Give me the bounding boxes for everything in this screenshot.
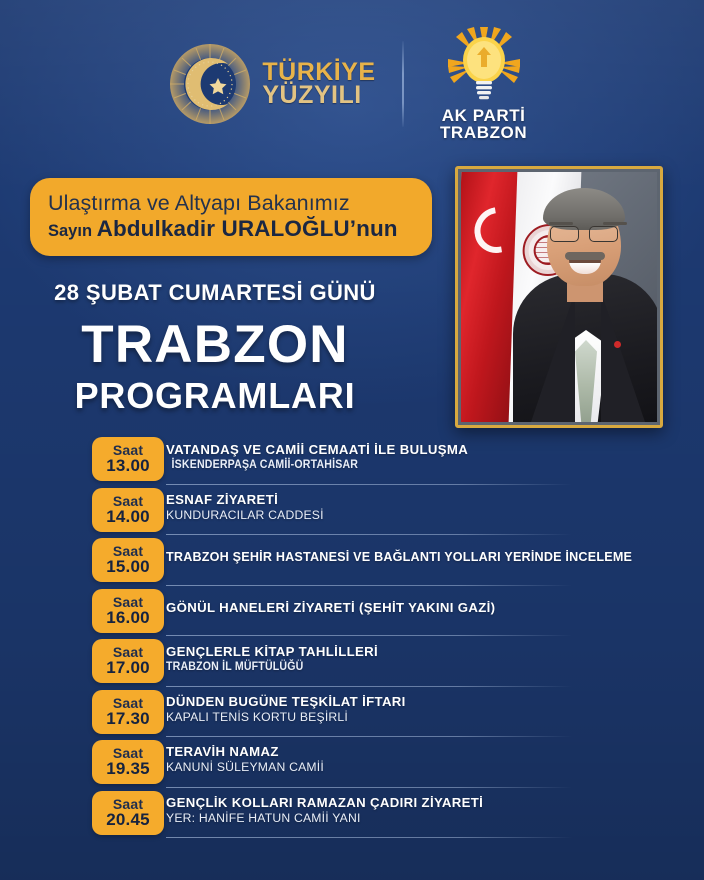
ak-parti-line: AK PARTİ [442, 107, 526, 124]
time-badge: Saat 17.00 [92, 639, 164, 683]
minister-banner: Ulaştırma ve Altyapı Bakanımız Sayın Abd… [30, 178, 432, 256]
time-badge-value: 17.00 [106, 659, 150, 676]
schedule-item-title: DÜNDEN BUGÜNE TEŞKİLAT İFTARI [166, 694, 570, 710]
portrait-moustache [565, 252, 605, 260]
time-badge-value: 13.00 [106, 457, 150, 474]
schedule-item-subtitle: KUNDURACILAR CADDESİ [166, 508, 570, 523]
time-badge-label: Saat [113, 645, 143, 659]
time-badge-label: Saat [113, 746, 143, 760]
banner-name-text: Sayın Abdulkadir URALOĞLU’nun [48, 216, 416, 241]
time-badge-label: Saat [113, 494, 143, 508]
schedule-item-title: GÖNÜL HANELERİ ZİYARETİ (ŞEHİT YAKINI GA… [166, 600, 570, 616]
time-badge: Saat 13.00 [92, 437, 164, 481]
portrait-brow-left [549, 222, 573, 225]
banner-minister-name: Abdulkadir URALOĞLU’nun [97, 216, 398, 241]
row-divider [166, 837, 572, 838]
schedule-row-text: GENÇLİK KOLLARI RAMAZAN ÇADIRI ZİYARETİ … [166, 788, 570, 834]
poster: TÜRKİYE YÜZYILI [0, 0, 704, 880]
time-badge-label: Saat [113, 595, 143, 609]
portrait-image [461, 172, 657, 422]
schedule-row: Saat 19.35 TERAVİH NAMAZ KANUNİ SÜLEYMAN… [0, 737, 704, 788]
turkiye-yuzyili-wordmark: TÜRKİYE YÜZYILI [262, 61, 375, 108]
trabzon-line: TRABZON [440, 124, 527, 141]
schedule-row-text: ESNAF ZİYARETİ KUNDURACILAR CADDESİ [166, 485, 570, 531]
schedule-row-text: DÜNDEN BUGÜNE TEŞKİLAT İFTARI KAPALI TEN… [166, 687, 570, 733]
page-title: TRABZON [0, 318, 430, 371]
time-badge-label: Saat [113, 544, 143, 558]
crescent-star-icon [168, 42, 252, 126]
banner-role-text: Ulaştırma ve Altyapı Bakanımız [48, 191, 416, 215]
schedule-list: Saat 13.00 VATANDAŞ VE CAMİİ CEMAATİ İLE… [0, 434, 704, 838]
schedule-row-text: VATANDAŞ VE CAMİİ CEMAATİ İLE BULUŞMA İS… [166, 434, 570, 480]
time-badge-value: 15.00 [106, 558, 150, 575]
poster-header: TÜRKİYE YÜZYILI [0, 28, 704, 140]
ak-parti-wordmark: AK PARTİ TRABZON [440, 107, 527, 141]
time-badge: Saat 19.35 [92, 740, 164, 784]
schedule-row: Saat 17.30 DÜNDEN BUGÜNE TEŞKİLAT İFTARI… [0, 687, 704, 738]
time-badge-value: 17.30 [106, 710, 150, 727]
yuzyili-line: YÜZYILI [262, 84, 375, 108]
schedule-item-title: TERAVİH NAMAZ [166, 744, 570, 760]
schedule-item-subtitle: KAPALI TENİS KORTU BEŞİRLİ [166, 710, 570, 725]
header-divider [402, 41, 404, 127]
portrait-brow-right [603, 222, 627, 225]
ak-parti-trabzon-logo: AK PARTİ TRABZON [408, 27, 536, 141]
schedule-row-text: GÖNÜL HANELERİ ZİYARETİ (ŞEHİT YAKINI GA… [166, 586, 570, 632]
portrait-glasses [549, 226, 619, 241]
time-badge-label: Saat [113, 797, 143, 811]
schedule-row: Saat 17.00 GENÇLERLE KİTAP TAHLİLLERİ TR… [0, 636, 704, 687]
schedule-item-subtitle: TRABZON İL MÜFTÜLÜĞÜ [166, 660, 538, 674]
time-badge: Saat 15.00 [92, 538, 164, 582]
schedule-row: Saat 20.45 GENÇLİK KOLLARI RAMAZAN ÇADIR… [0, 788, 704, 839]
portrait-person [513, 172, 657, 422]
schedule-row-text: GENÇLERLE KİTAP TAHLİLLERİ TRABZON İL MÜ… [166, 636, 570, 682]
time-badge-label: Saat [113, 443, 143, 457]
turkiye-yuzyili-logo: TÜRKİYE YÜZYILI [168, 42, 401, 126]
time-badge-value: 20.45 [106, 811, 150, 828]
schedule-row: Saat 13.00 VATANDAŞ VE CAMİİ CEMAATİ İLE… [0, 434, 704, 485]
schedule-row: Saat 15.00 TRABZOH ŞEHİR HASTANESİ VE BA… [0, 535, 704, 586]
schedule-item-title: VATANDAŞ VE CAMİİ CEMAATİ İLE BULUŞMA [166, 442, 570, 458]
schedule-item-subtitle: KANUNİ SÜLEYMAN CAMİİ [166, 760, 570, 775]
time-badge: Saat 14.00 [92, 488, 164, 532]
event-date: 28 ŞUBAT CUMARTESİ GÜNÜ [0, 280, 430, 306]
time-badge: Saat 16.00 [92, 589, 164, 633]
banner-honorific: Sayın [48, 222, 97, 240]
schedule-row: Saat 16.00 GÖNÜL HANELERİ ZİYARETİ (ŞEHİ… [0, 586, 704, 637]
schedule-item-subtitle: YER: HANİFE HATUN CAMİİ YANI [166, 811, 570, 826]
time-badge: Saat 17.30 [92, 690, 164, 734]
portrait-lapel-pin [614, 341, 621, 348]
light-bulb-icon [432, 27, 536, 105]
schedule-row: Saat 14.00 ESNAF ZİYARETİ KUNDURACILAR C… [0, 485, 704, 536]
page-subtitle: PROGRAMLARI [0, 378, 430, 414]
schedule-item-title: TRABZOH ŞEHİR HASTANESİ VE BAĞLANTI YOLL… [166, 550, 570, 565]
minister-portrait [455, 166, 663, 428]
schedule-item-title: GENÇLİK KOLLARI RAMAZAN ÇADIRI ZİYARETİ [166, 795, 570, 811]
time-badge-value: 14.00 [106, 508, 150, 525]
schedule-row-text: TRABZOH ŞEHİR HASTANESİ VE BAĞLANTI YOLL… [166, 535, 570, 581]
time-badge-value: 16.00 [106, 609, 150, 626]
time-badge-value: 19.35 [106, 760, 150, 777]
schedule-row-text: TERAVİH NAMAZ KANUNİ SÜLEYMAN CAMİİ [166, 737, 570, 783]
time-badge-label: Saat [113, 696, 143, 710]
time-badge: Saat 20.45 [92, 791, 164, 835]
schedule-item-title: ESNAF ZİYARETİ [166, 492, 570, 508]
schedule-item-subtitle: İSKENDERPAŞA CAMİİ-ORTAHİSAR [166, 458, 538, 472]
schedule-item-title: GENÇLERLE KİTAP TAHLİLLERİ [166, 644, 570, 660]
